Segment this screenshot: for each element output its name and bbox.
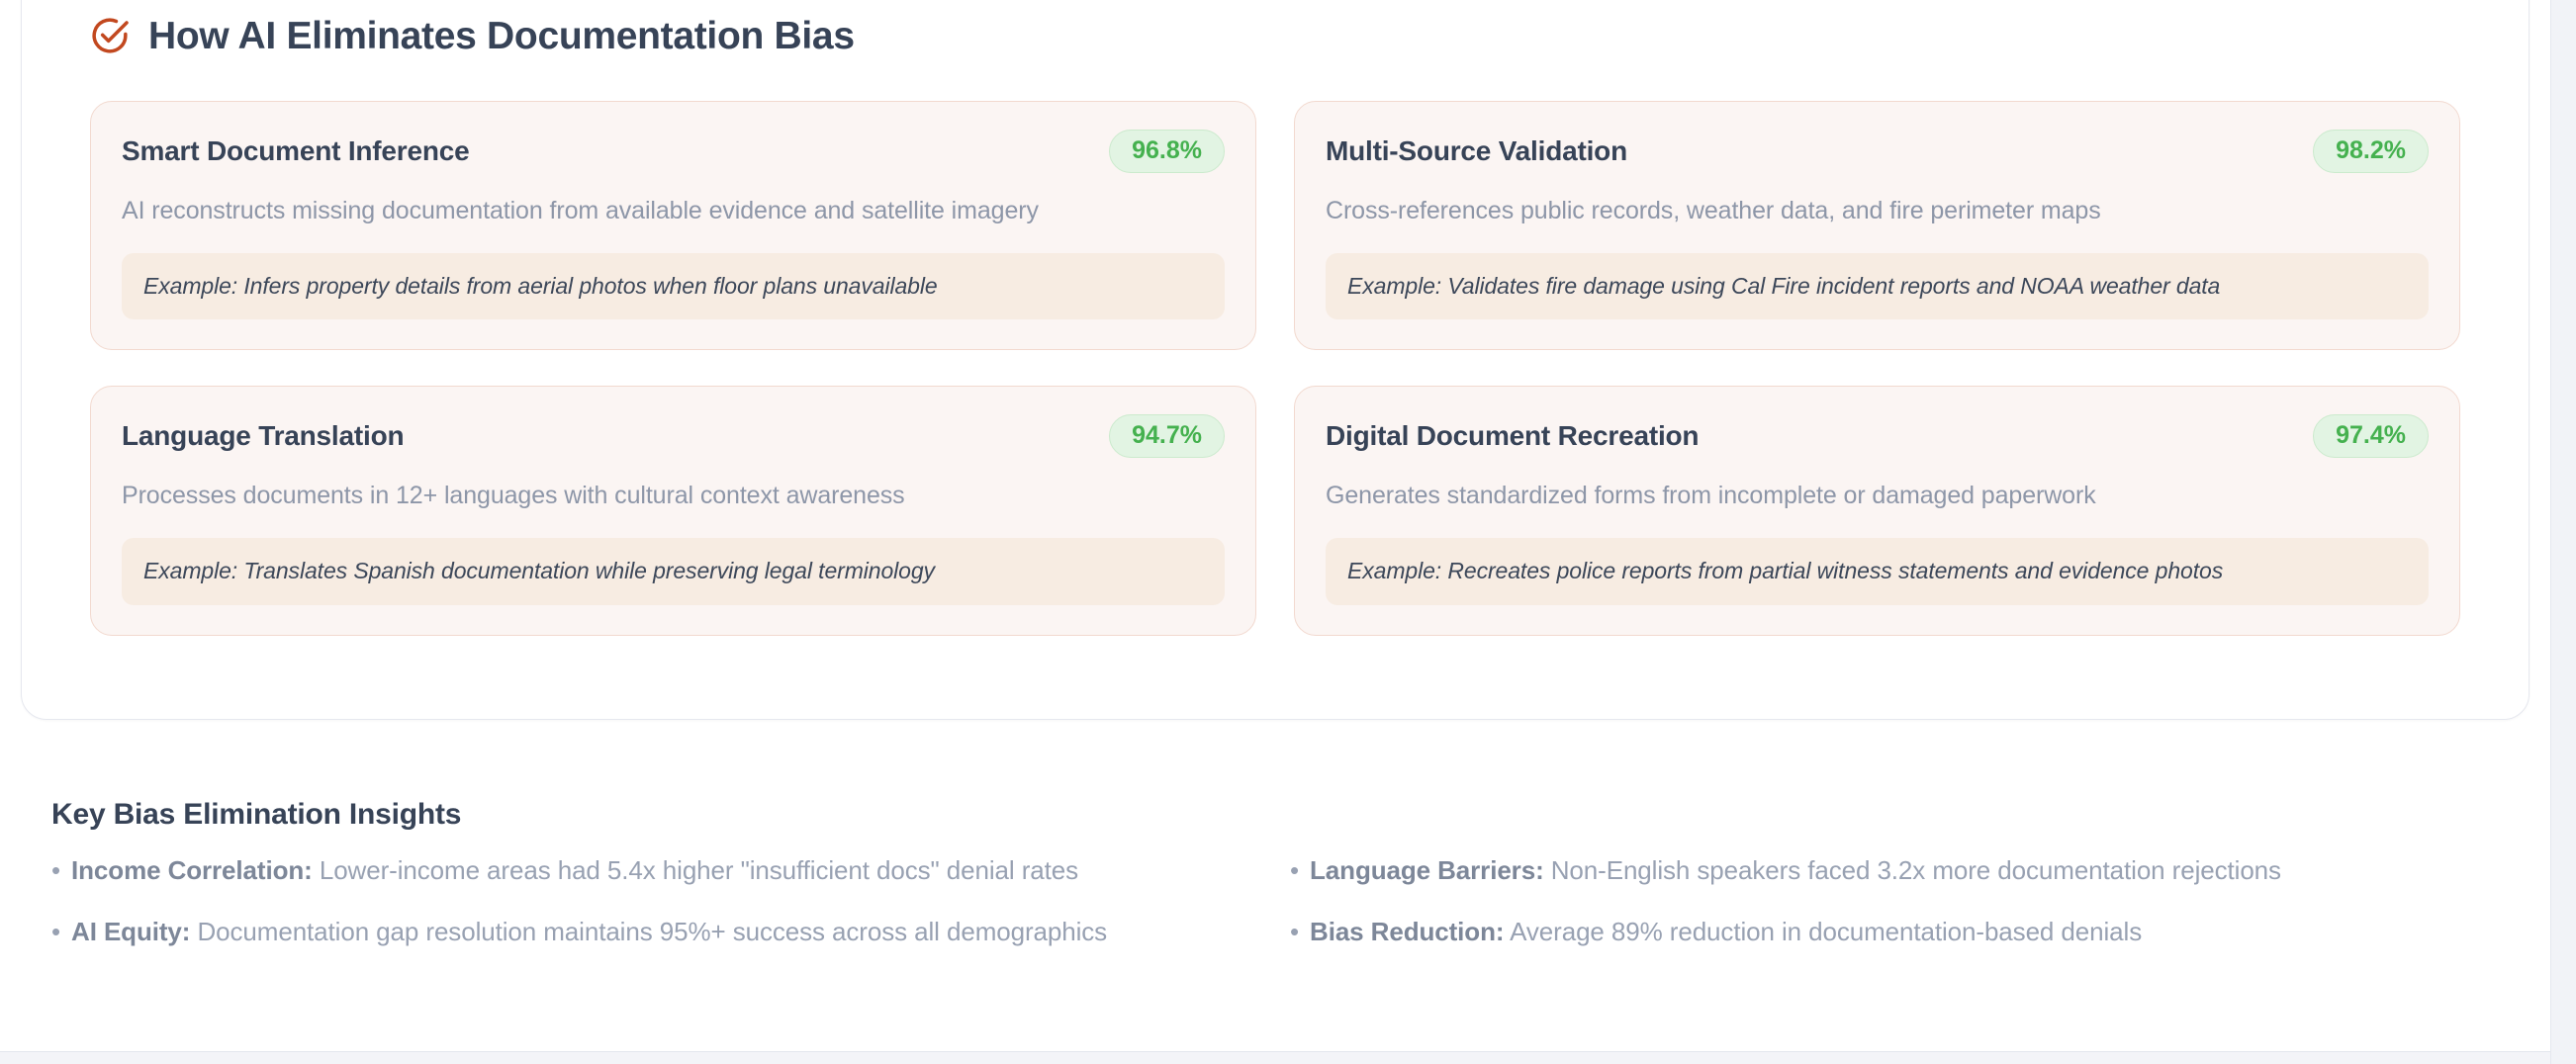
feature-card[interactable]: Language Translation 94.7% Processes doc…	[90, 386, 1256, 635]
insight-text: Bias Reduction: Average 89% reduction in…	[1310, 916, 2142, 948]
insight-text: AI Equity: Documentation gap resolution …	[71, 916, 1107, 948]
insight-text: Income Correlation: Lower-income areas h…	[71, 854, 1078, 887]
card-description: AI reconstructs missing documentation fr…	[122, 195, 1225, 227]
card-header: Smart Document Inference 96.8%	[122, 129, 1225, 174]
accuracy-badge: 98.2%	[2313, 130, 2429, 173]
feature-card[interactable]: Multi-Source Validation 98.2% Cross-refe…	[1294, 101, 2460, 350]
card-header: Language Translation 94.7%	[122, 413, 1225, 459]
insight-label: Income Correlation:	[71, 855, 313, 885]
card-description: Generates standardized forms from incomp…	[1326, 480, 2429, 512]
panel-header: How AI Eliminates Documentation Bias	[69, 1, 2481, 70]
bullet-icon: •	[51, 916, 60, 948]
feature-card[interactable]: Digital Document Recreation 97.4% Genera…	[1294, 386, 2460, 635]
insight-label: Language Barriers:	[1310, 855, 1544, 885]
card-header: Digital Document Recreation 97.4%	[1326, 413, 2429, 459]
bullet-icon: •	[1290, 916, 1299, 948]
insight-body: Non-English speakers faced 3.2x more doc…	[1544, 855, 2281, 885]
card-example: Example: Infers property details from ae…	[122, 253, 1225, 320]
accuracy-badge: 96.8%	[1109, 130, 1225, 173]
bullet-icon: •	[1290, 854, 1299, 887]
insights-title: Key Bias Elimination Insights	[51, 800, 2485, 830]
card-title: Multi-Source Validation	[1326, 135, 1627, 167]
insight-body: Lower-income areas had 5.4x higher "insu…	[313, 855, 1078, 885]
card-example: Example: Validates fire damage using Cal…	[1326, 253, 2429, 320]
card-title: Digital Document Recreation	[1326, 420, 1699, 452]
bullet-icon: •	[51, 854, 60, 887]
card-example: Example: Translates Spanish documentatio…	[122, 538, 1225, 605]
insights-grid: • Income Correlation: Lower-income areas…	[51, 854, 2485, 947]
card-example: Example: Recreates police reports from p…	[1326, 538, 2429, 605]
card-title: Language Translation	[122, 420, 404, 452]
insight-body: Average 89% reduction in documentation-b…	[1504, 917, 2142, 946]
insight-item: • Bias Reduction: Average 89% reduction …	[1290, 916, 2485, 948]
panel-inner: How AI Eliminates Documentation Bias Sma…	[22, 0, 2529, 636]
insight-item: • AI Equity: Documentation gap resolutio…	[51, 916, 1246, 948]
accuracy-badge: 97.4%	[2313, 414, 2429, 458]
page-title: How AI Eliminates Documentation Bias	[148, 17, 855, 55]
content-column: How AI Eliminates Documentation Bias Sma…	[0, 0, 2550, 1064]
key-insights-section: Key Bias Elimination Insights • Income C…	[51, 800, 2485, 947]
insight-label: AI Equity:	[71, 917, 190, 946]
card-title: Smart Document Inference	[122, 135, 470, 167]
documentation-bias-panel: How AI Eliminates Documentation Bias Sma…	[21, 0, 2530, 720]
card-description: Cross-references public records, weather…	[1326, 195, 2429, 227]
insight-item: • Language Barriers: Non-English speaker…	[1290, 854, 2485, 887]
feature-card-grid: Smart Document Inference 96.8% AI recons…	[69, 70, 2481, 636]
insight-item: • Income Correlation: Lower-income areas…	[51, 854, 1246, 887]
insight-body: Documentation gap resolution maintains 9…	[190, 917, 1107, 946]
insight-label: Bias Reduction:	[1310, 917, 1504, 946]
page-root: How AI Eliminates Documentation Bias Sma…	[0, 0, 2576, 1064]
insight-text: Language Barriers: Non-English speakers …	[1310, 854, 2281, 887]
card-description: Processes documents in 12+ languages wit…	[122, 480, 1225, 512]
bottom-strip	[0, 1052, 2550, 1064]
feature-card[interactable]: Smart Document Inference 96.8% AI recons…	[90, 101, 1256, 350]
check-circle-icon	[90, 16, 130, 55]
accuracy-badge: 94.7%	[1109, 414, 1225, 458]
page-scrollbar[interactable]	[2550, 0, 2576, 1064]
card-header: Multi-Source Validation 98.2%	[1326, 129, 2429, 174]
